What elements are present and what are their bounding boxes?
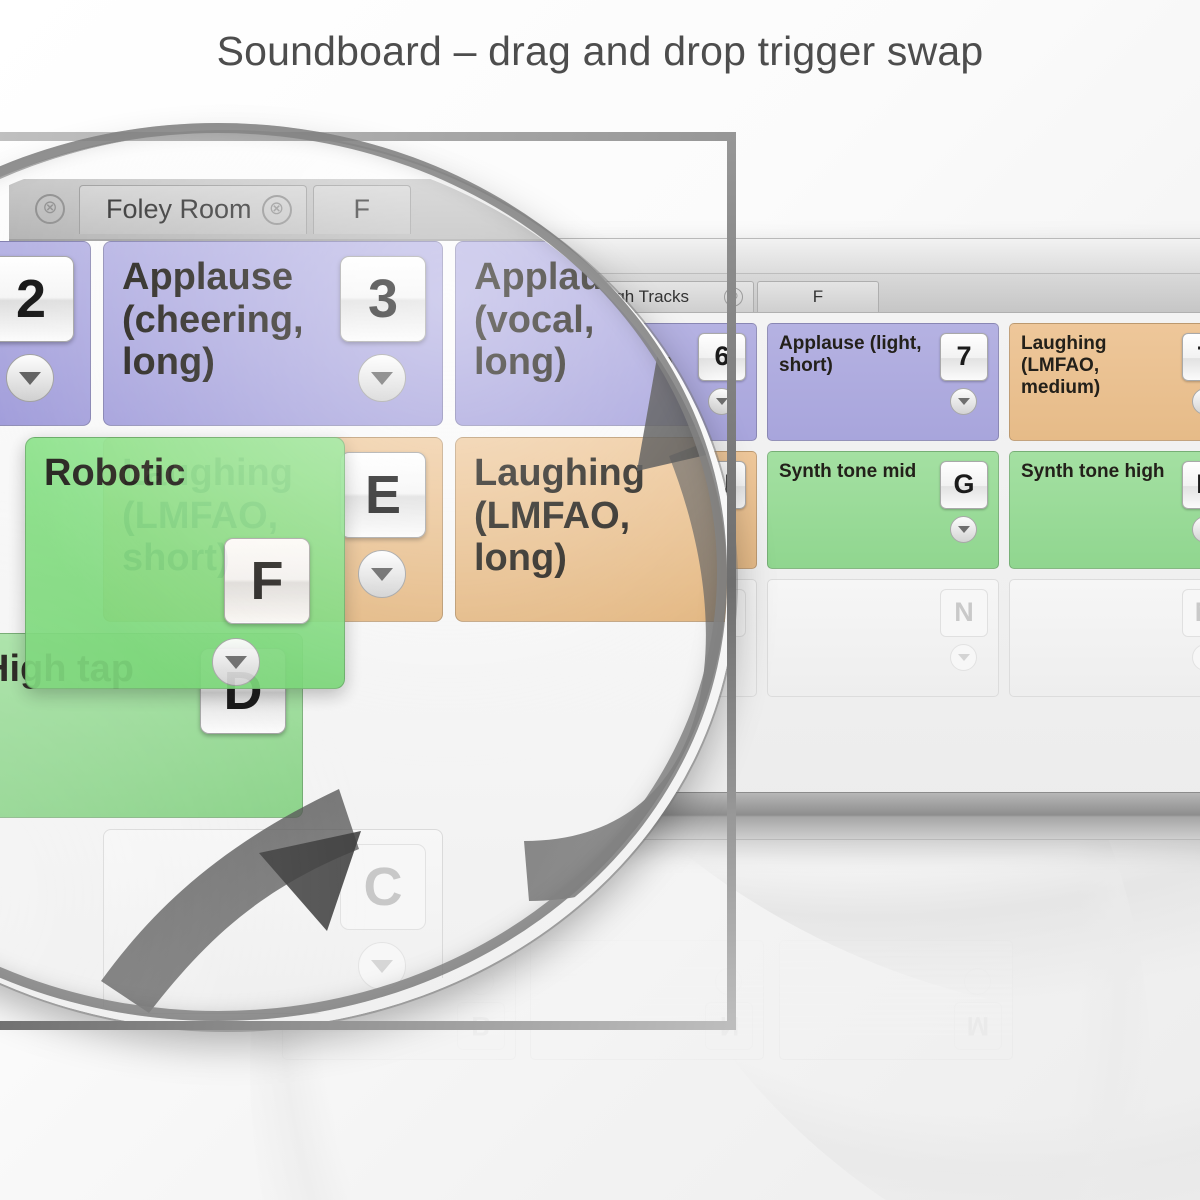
sound-cell[interactable]: Applause (light, short) 7 [767,323,999,441]
sound-label: Synth tone high [1021,461,1165,482]
chevron-down-icon[interactable] [1192,388,1200,415]
sound-cell-magnified[interactable]: Applause (cheering, long) 3 [103,241,443,426]
trigger-key[interactable]: F [224,538,310,624]
tab-label: Foley Room [106,194,252,225]
chevron-down-icon[interactable] [1192,516,1200,543]
close-icon[interactable]: ⊗ [35,194,65,224]
trigger-key[interactable]: 3 [340,256,426,342]
sound-label: Laughing (LMFAO, long) [474,452,645,579]
tab-next-magnified[interactable]: F [313,185,412,234]
chevron-down-icon[interactable] [1192,644,1200,671]
trigger-key[interactable]: H [1182,461,1200,509]
sound-cell[interactable]: Synth tone mid G [767,451,999,569]
chevron-down-icon[interactable] [358,354,406,402]
trigger-key[interactable]: N [940,589,988,637]
trigger-key[interactable]: 2 [0,256,74,342]
sound-cell[interactable]: Laughing (LMFAO, medium) T [1009,323,1200,441]
magnified-content: ⊗ Foley Room ⊗ F 2 Applause (cheering, l… [9,141,736,1021]
sound-cell-magnified[interactable]: Laughing (LMFAO, long) R [455,437,736,622]
sound-label: Applause (vocal, long) [474,256,645,383]
tab-label: F [813,287,823,307]
empty-sound-cell-magnified[interactable]: C [103,829,443,1014]
sound-label: Synth tone mid [779,461,916,482]
close-icon[interactable]: ⊗ [262,195,292,225]
reflection-chevron-icon [964,968,991,995]
chevron-down-icon[interactable] [358,942,406,990]
magnified-tabbar: ⊗ Foley Room ⊗ F [9,179,736,241]
tab-foley-room[interactable]: F [757,281,879,312]
page-title: Soundboard – drag and drop trigger swap [0,28,1200,75]
chevron-down-icon[interactable] [950,516,977,543]
trigger-key[interactable]: T [1182,333,1200,381]
sound-label: Robotic [44,452,185,494]
chevron-down-icon[interactable] [950,644,977,671]
sound-cell-magnified[interactable]: Applause (vocal, long) 4 [455,241,736,426]
chevron-down-icon[interactable] [950,388,977,415]
trigger-key[interactable]: G [940,461,988,509]
sound-label: Laughing (LMFAO, medium) [1021,333,1106,398]
empty-sound-cell[interactable]: M [1009,579,1200,697]
sound-label: Applause (cheering, long) [122,256,304,383]
trigger-key[interactable]: 7 [940,333,988,381]
empty-sound-cell[interactable]: N [767,579,999,697]
chevron-down-icon[interactable] [212,638,260,686]
trigger-key[interactable]: E [340,452,426,538]
trigger-key[interactable]: M [1182,589,1200,637]
reflection-cell: M [779,940,1013,1060]
magnifier-lens: ⊗ Foley Room ⊗ F 2 Applause (cheering, l… [0,132,736,1030]
sound-cell[interactable]: Synth tone high H [1009,451,1200,569]
tab-label: F [354,194,371,225]
sound-label: Applause (light, short) [779,333,922,376]
trigger-key[interactable]: C [340,844,426,930]
drag-ghost-robotic[interactable]: Robotic F [25,437,345,689]
reflection-key: M [954,1002,1002,1050]
chevron-down-icon[interactable] [6,354,54,402]
sound-cell-magnified[interactable]: 2 [0,241,91,426]
tab-foley-room-magnified[interactable]: Foley Room ⊗ [79,185,307,234]
chevron-down-icon[interactable] [358,550,406,598]
